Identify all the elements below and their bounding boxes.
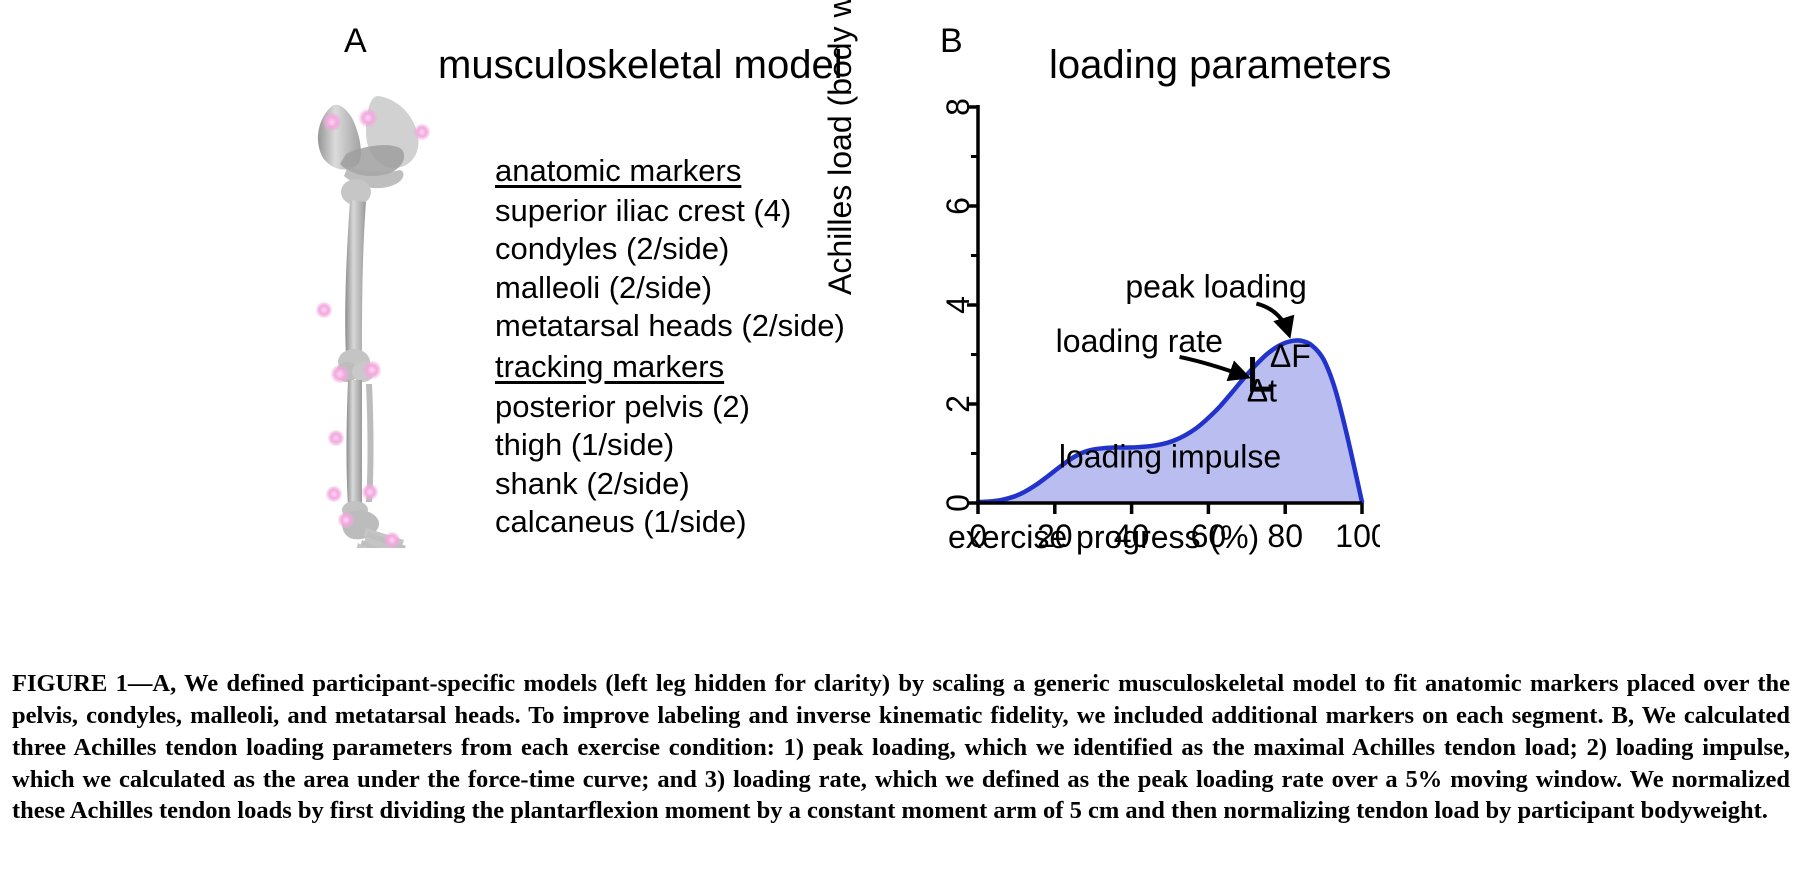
chart-svg: 02468020406080100loading impulsepeak loa… (900, 95, 1380, 565)
tracking-marker-item: shank (2/side) (495, 465, 750, 503)
tracking-marker-item: calcaneus (1/side) (495, 503, 750, 541)
anatomic-marker-item: malleoli (2/side) (495, 269, 845, 307)
delta-f-label: ΔF (1270, 338, 1311, 374)
tracking-markers-block: tracking markers posterior pelvis (2) th… (495, 348, 750, 542)
peak-loading-label: peak loading (1125, 269, 1306, 305)
anatomic-marker-item: condyles (2/side) (495, 230, 845, 268)
panel-letter-b: B (940, 24, 963, 58)
figure-area: A musculoskeletal model (0, 0, 1796, 660)
figure-caption: FIGURE 1—A, We defined participant-speci… (12, 668, 1790, 827)
y-axis-title: Achilles load (body weights) (822, 0, 859, 295)
musculoskeletal-model-image (300, 88, 480, 548)
tracking-marker-item: posterior pelvis (2) (495, 388, 750, 426)
y-tick-label: 0 (940, 494, 976, 512)
anatomic-markers-block: anatomic markers superior iliac crest (4… (495, 152, 845, 346)
y-tick-label: 2 (940, 395, 976, 413)
y-tick-label: 6 (940, 197, 976, 215)
loading-parameters-chart: 02468020406080100loading impulsepeak loa… (900, 95, 1380, 565)
x-axis-title: exercise progress (%) (948, 519, 1259, 556)
anatomic-marker-item: superior iliac crest (4) (495, 192, 845, 230)
x-tick-label: 100 (1335, 518, 1380, 554)
panel-b-title: loading parameters (1049, 45, 1391, 85)
loading-rate-arrow (1180, 357, 1247, 377)
loading-rate-label: loading rate (1056, 323, 1223, 359)
femur-group (338, 200, 370, 375)
y-tick-label: 4 (940, 296, 976, 314)
panel-a-title: musculoskeletal model (438, 45, 843, 85)
tracking-marker-item: thigh (1/side) (495, 426, 750, 464)
delta-t-label: Δt (1247, 373, 1277, 409)
panel-letter-a: A (344, 24, 367, 58)
x-tick-label: 80 (1267, 518, 1303, 554)
loading-impulse-label: loading impulse (1059, 438, 1281, 474)
anatomic-marker-item: metatarsal heads (2/side) (495, 307, 845, 345)
y-tick-label: 8 (940, 98, 976, 116)
tracking-markers-heading: tracking markers (495, 348, 750, 386)
peak-loading-arrow (1256, 304, 1289, 335)
anatomic-markers-heading: anatomic markers (495, 152, 845, 190)
